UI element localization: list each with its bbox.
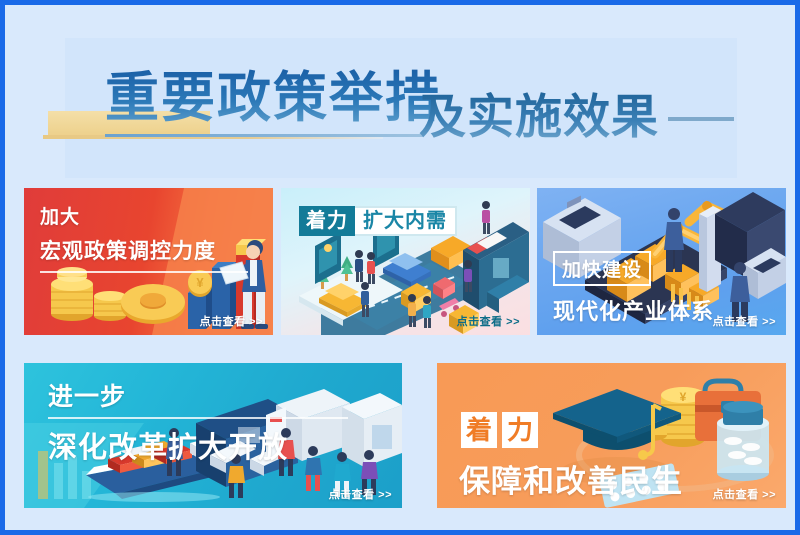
card-livelihood-line1-char2: 力 (502, 412, 538, 448)
card-expand-demand-title: 着力 扩大内需 (299, 206, 457, 236)
card-macro-policy[interactable]: ¥ 加大 宏观政策调控力度 (24, 188, 273, 335)
card-reform-opening-line1: 进一步 (48, 377, 348, 413)
card-modern-industry-text: 加快建设 现代化产业体系 (553, 251, 714, 326)
svg-text:¥: ¥ (196, 275, 204, 290)
card-modern-industry-line1: 加快建设 (553, 251, 651, 286)
card-modern-industry-line2: 现代化产业体系 (553, 294, 714, 326)
card-expand-demand-line1: 着力 (299, 206, 355, 236)
card-expand-demand[interactable]: 着力 扩大内需 点击查看 >> (281, 188, 530, 335)
card-livelihood-line1-char1: 着 (461, 412, 497, 448)
title-underline (105, 134, 423, 137)
card-reform-opening-text: 进一步 深化改革扩大开放 (48, 377, 348, 466)
card-macro-policy-text: 加大 宏观政策调控力度 (40, 202, 248, 273)
page-subtitle: 及实施效果 (419, 91, 659, 145)
card-reform-opening[interactable]: 进一步 深化改革扩大开放 点击查看 >> (24, 363, 402, 508)
card-reform-opening-more-link[interactable]: 点击查看 >> (329, 486, 392, 502)
card-expand-demand-line2: 扩大内需 (355, 206, 457, 236)
card-livelihood[interactable]: ¥ ¥ (437, 363, 786, 508)
page-title: 重要政策举措 (105, 68, 441, 128)
svg-text:¥: ¥ (680, 390, 687, 404)
card-expand-demand-more-link[interactable]: 点击查看 >> (457, 313, 520, 329)
card-livelihood-text: 保障和改善民生 (459, 456, 683, 501)
card-livelihood-more-link[interactable]: 点击查看 >> (713, 486, 776, 502)
card-modern-industry[interactable]: 加快建设 现代化产业体系 点击查看 >> (537, 188, 786, 335)
card-macro-policy-line2: 宏观政策调控力度 (40, 235, 248, 265)
poster-page: 重要政策举措 及实施效果 (5, 5, 795, 530)
card-livelihood-title-tag: 着 力 (461, 412, 538, 448)
card-livelihood-line2: 保障和改善民生 (459, 456, 683, 501)
card-reform-opening-line2: 深化改革扩大开放 (48, 424, 348, 466)
subtitle-dash (668, 117, 734, 121)
poster-header: 重要政策举措 及实施效果 (5, 35, 795, 165)
card-modern-industry-more-link[interactable]: 点击查看 >> (713, 313, 776, 329)
card-reform-opening-rule (48, 417, 348, 419)
card-macro-policy-underline (40, 271, 248, 273)
card-macro-policy-line1: 加大 (40, 202, 248, 229)
card-macro-policy-more-link[interactable]: 点击查看 >> (200, 313, 263, 329)
